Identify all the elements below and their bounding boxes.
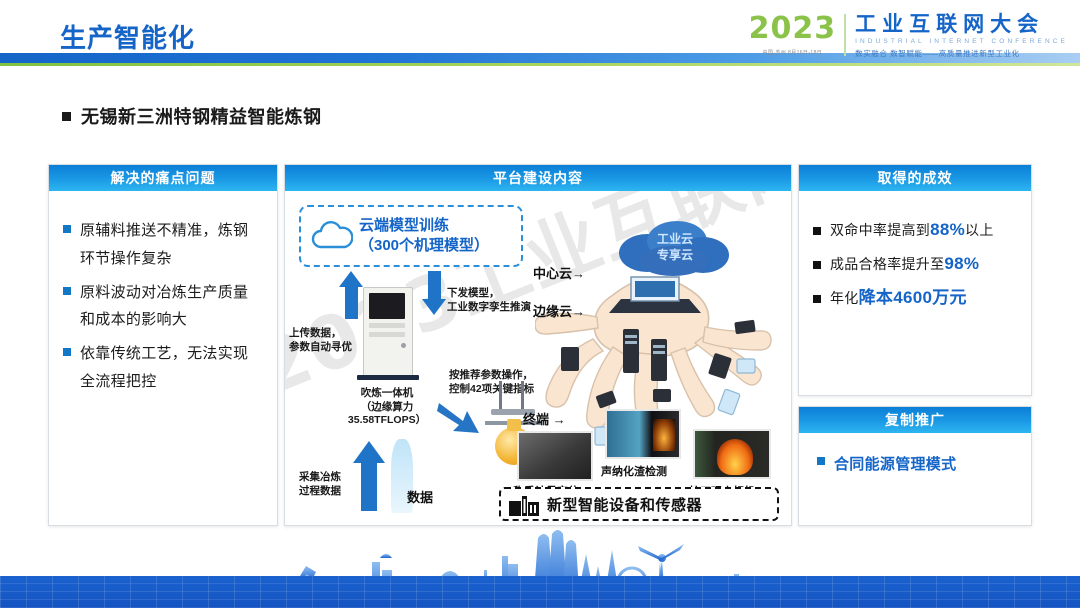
bullet-marker-icon [813,295,821,303]
arrow-up-head-1 [339,271,363,287]
sensor-box: 新型智能设备和传感器 [499,487,779,521]
sensor-box-text: 新型智能设备和传感器 [547,494,702,515]
result-text: 成品合格率提升至98% [830,253,979,275]
pain-point-text: 原辅料推送不精准，炼钢环节操作复杂 [80,217,263,273]
pain-point-item: 原料波动对冶炼生产质量和成本的影响大 [63,279,263,335]
pain-point-text: 原料波动对冶炼生产质量和成本的影响大 [80,279,263,335]
thumb-sonar [605,409,681,459]
result-highlight: 98% [944,254,979,273]
logo-year-sub: 中国·苏州 8月16日-18日 [763,49,823,56]
page-title: 生产智能化 [60,18,195,55]
result-highlight: 88% [930,220,965,239]
label-download: 下发模型，工业数字孪生推演 [447,287,531,314]
header-band-green [0,63,1080,66]
thumb-furnace-camera [693,429,771,479]
panel-promotion: 复制推广 合同能源管理模式 [798,406,1032,526]
panel-results: 取得的成效 双命中率提高到88%以上成品合格率提升至98%年化降本4600万元 [798,164,1032,396]
conference-logo: 2023 中国·苏州 8月16日-18日 工业互联网大会 INDUSTRIAL … [749,14,1068,59]
bullet-marker-icon [63,287,71,295]
label-upload: 上传数据，参数自动寻优 [289,327,352,354]
ground-grid [0,576,1080,608]
server-illustration [357,287,423,383]
panel-results-header: 取得的成效 [799,165,1031,191]
slide-root: 生产智能化 2023 中国·苏州 8月16日-18日 工业互联网大会 INDUS… [0,0,1080,608]
panel-pain-points: 解决的痛点问题 原辅料推送不精准，炼钢环节操作复杂原料波动对冶炼生产质量和成本的… [48,164,278,526]
arrow-down-head-1 [422,299,446,315]
bottom-skyline [0,530,1080,608]
result-item: 年化降本4600万元 [813,287,1021,309]
cloud-icon [309,219,353,253]
result-list: 双命中率提高到88%以上成品合格率提升至98%年化降本4600万元 [799,191,1031,309]
result-highlight: 降本4600万元 [859,288,967,307]
pain-point-item: 原辅料推送不精准，炼钢环节操作复杂 [63,217,263,273]
panel-promotion-header: 复制推广 [799,407,1031,433]
label-collect: 采集冶炼过程数据 [299,471,341,498]
logo-slogan: 数实融合 数智赋能——高质量推进新型工业化 [855,48,1068,59]
label-edge-cloud: 边缘云→ [533,301,585,320]
arrow-up-shaft-2 [361,459,377,511]
logo-name-cn: 工业互联网大会 [855,14,1068,36]
cloud-training-box: 云端模型训练（300个机理模型） [299,205,523,267]
result-item: 双命中率提高到88%以上 [813,219,1021,241]
bullet-marker-icon [813,261,821,269]
section-subtitle-text: 无锡新三洲特钢精益智能炼钢 [81,103,322,129]
label-data: 数据 [407,487,433,506]
result-text: 年化降本4600万元 [830,287,967,309]
thumb-caption-sonar: 声纳化渣检测 [601,463,667,479]
bullet-square-icon [62,112,71,121]
logo-year-block: 2023 中国·苏州 8月16日-18日 [749,14,847,56]
label-edge-machine: 吹炼一体机（边缘算力35.58TFLOPS） [337,387,437,428]
panel-platform-header: 平台建设内容 [285,165,791,191]
label-terminal: 终端 → [523,409,566,428]
promotion-list: 合同能源管理模式 [799,433,1031,479]
section-subtitle: 无锡新三洲特钢精益智能炼钢 [62,103,322,129]
pain-point-item: 依靠传统工艺，无法实现全流程把控 [63,340,263,396]
cloud-training-text: 云端模型训练（300个机理模型） [359,216,489,257]
label-industrial-cloud: 工业云专享云 [627,231,723,263]
arrow-diagonal [437,399,481,437]
result-text: 双命中率提高到88%以上 [830,219,994,241]
logo-name-block: 工业互联网大会 INDUSTRIAL INTERNET CONFERENCE 数… [846,14,1068,59]
logo-year: 2023 [749,14,837,44]
promotion-item: 合同能源管理模式 [817,451,1021,479]
bullet-marker-icon [813,227,821,235]
platform-diagram: 2023工业互联网大会 云端模型训练（300个机理模型） [285,191,791,525]
thumb-weighing [517,431,593,481]
logo-name-en: INDUSTRIAL INTERNET CONFERENCE [855,38,1068,45]
arrow-up-head-2 [353,441,385,463]
result-item: 成品合格率提升至98% [813,253,1021,275]
promotion-text: 合同能源管理模式 [834,451,956,479]
bullet-marker-icon [63,348,71,356]
arrow-down-shaft-1 [428,271,441,301]
pain-point-list: 原辅料推送不精准，炼钢环节操作复杂原料波动对冶炼生产质量和成本的影响大依靠传统工… [49,191,277,396]
label-center-cloud: 中心云→ [533,263,585,282]
bullet-marker-icon [817,457,825,465]
panel-pain-header: 解决的痛点问题 [49,165,277,191]
bullet-marker-icon [63,225,71,233]
panel-platform: 平台建设内容 2023工业互联网大会 云端模型训练（300个机理模型） [284,164,792,526]
pain-point-text: 依靠传统工艺，无法实现全流程把控 [80,340,263,396]
factory-icon [509,492,539,516]
